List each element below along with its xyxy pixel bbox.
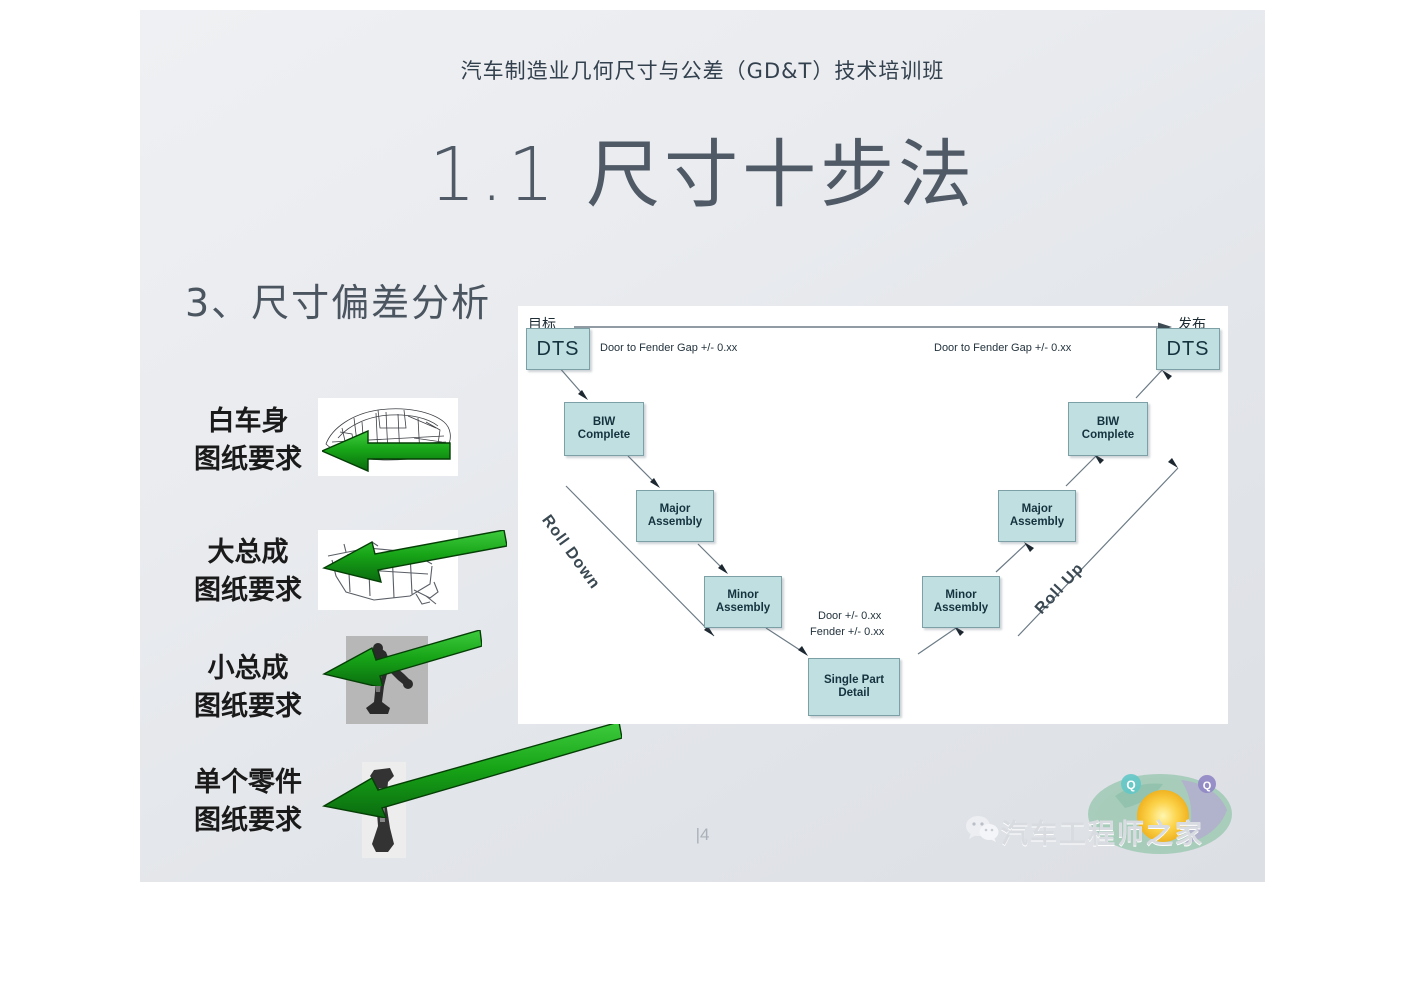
- node-dts-right: DTS: [1156, 328, 1220, 370]
- node-biw-complete-right-line2: Complete: [1082, 429, 1134, 442]
- node-single-part-detail: Single Part Detail: [808, 658, 900, 716]
- section-label: 3、尺寸偏差分析: [185, 272, 491, 327]
- node-minor-assembly-right-line2: Assembly: [934, 602, 988, 615]
- node-minor-assembly-left-line1: Minor: [716, 589, 770, 602]
- row-caption-biw-line1: 白车身: [168, 403, 328, 441]
- node-single-part-detail-line1: Single Part: [824, 674, 884, 687]
- svg-text:Q: Q: [1126, 778, 1135, 792]
- slide-title: 1.1 尺寸十步法: [140, 115, 1265, 222]
- green-arrow-icon: [322, 428, 452, 474]
- node-dts-right-label: DTS: [1167, 343, 1210, 356]
- tolerance-flow-diagram: 目标 发布: [518, 306, 1228, 724]
- node-single-part-detail-line2: Detail: [824, 687, 884, 700]
- node-dts-left-label: DTS: [537, 343, 580, 356]
- node-biw-complete-left-line1: BIW: [578, 416, 630, 429]
- row-caption-major-line1: 大总成: [168, 534, 328, 572]
- green-arrow-icon: [322, 530, 507, 590]
- row-caption-minor-line2: 图纸要求: [168, 688, 328, 726]
- row-caption-major: 大总成 图纸要求: [168, 534, 328, 610]
- watermark-text: 汽车工程师之家: [1001, 812, 1204, 851]
- row-caption-biw: 白车身 图纸要求: [168, 403, 328, 479]
- row-caption-minor: 小总成 图纸要求: [168, 650, 328, 726]
- green-arrow-minor: [322, 630, 482, 691]
- node-major-assembly-left-line2: Assembly: [648, 516, 702, 529]
- watermark: Q Q 汽车工程师之家: [965, 762, 1235, 862]
- green-arrow-icon: [322, 630, 482, 686]
- dts-note-right: Door to Fender Gap +/- 0.xx: [934, 342, 1071, 354]
- green-arrow-biw: [322, 428, 452, 479]
- node-biw-complete-left: BIW Complete: [564, 402, 644, 456]
- course-title: 汽车制造业几何尺寸与公差（GD&T）技术培训班: [140, 55, 1265, 85]
- node-major-assembly-left-line1: Major: [648, 503, 702, 516]
- node-biw-complete-left-line2: Complete: [578, 429, 630, 442]
- green-arrow-major: [322, 530, 507, 595]
- node-minor-assembly-left: Minor Assembly: [704, 576, 782, 628]
- tolerance-note-fender: Fender +/- 0.xx: [810, 626, 884, 638]
- green-arrow-icon: [322, 722, 622, 818]
- green-arrow-single-part: [322, 722, 622, 823]
- node-minor-assembly-left-line2: Assembly: [716, 602, 770, 615]
- node-biw-complete-right: BIW Complete: [1068, 402, 1148, 456]
- node-major-assembly-right: Major Assembly: [998, 490, 1076, 542]
- node-minor-assembly-right-line1: Minor: [934, 589, 988, 602]
- row-caption-biw-line2: 图纸要求: [168, 441, 328, 479]
- tolerance-note-door: Door +/- 0.xx: [818, 610, 881, 622]
- node-major-assembly-right-line2: Assembly: [1010, 516, 1064, 529]
- node-dts-left: DTS: [526, 328, 590, 370]
- wechat-icon: [965, 814, 999, 842]
- row-caption-major-line2: 图纸要求: [168, 572, 328, 610]
- node-biw-complete-right-line1: BIW: [1082, 416, 1134, 429]
- slide-background: 汽车制造业几何尺寸与公差（GD&T）技术培训班 1.1 尺寸十步法 3、尺寸偏差…: [140, 10, 1265, 882]
- node-major-assembly-left: Major Assembly: [636, 490, 714, 542]
- dts-note-left: Door to Fender Gap +/- 0.xx: [600, 342, 737, 354]
- slide-canvas: 汽车制造业几何尺寸与公差（GD&T）技术培训班 1.1 尺寸十步法 3、尺寸偏差…: [0, 0, 1403, 992]
- node-major-assembly-right-line1: Major: [1010, 503, 1064, 516]
- svg-text:Q: Q: [1203, 780, 1212, 792]
- row-caption-minor-line1: 小总成: [168, 650, 328, 688]
- row-caption-single-part-line1: 单个零件: [158, 764, 338, 802]
- node-minor-assembly-right: Minor Assembly: [922, 576, 1000, 628]
